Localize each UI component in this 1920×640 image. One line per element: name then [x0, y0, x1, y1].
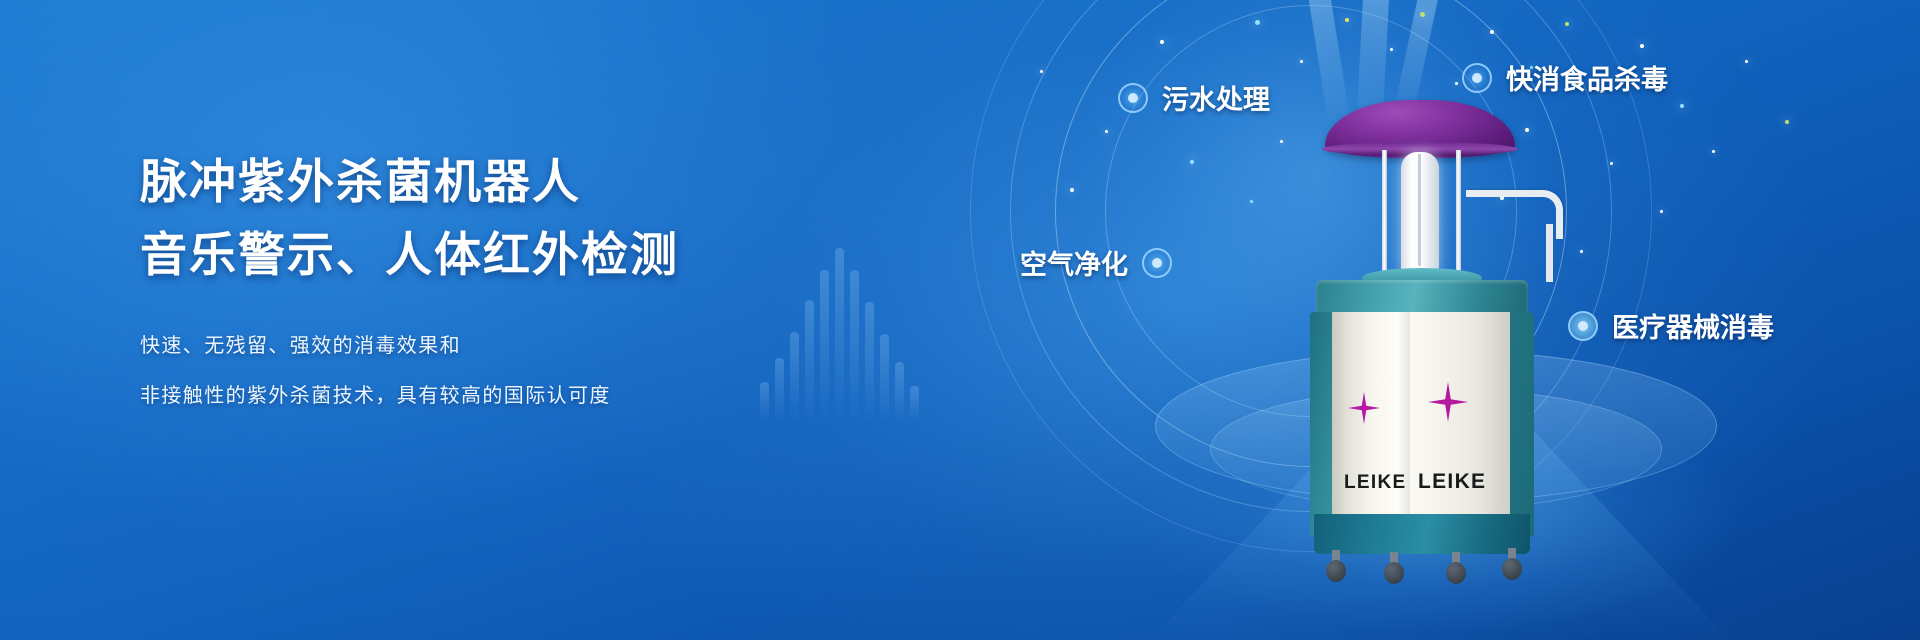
particle-dot	[1345, 18, 1349, 22]
callout-air-purification[interactable]: 空气净化	[1020, 243, 1172, 282]
headline-primary: 脉冲紫外杀菌机器人	[140, 150, 780, 217]
ring-node-icon	[1142, 248, 1172, 278]
waveform-bar	[880, 334, 889, 420]
particle-dot	[1565, 22, 1569, 26]
particle-dot	[1745, 60, 1748, 63]
particle-dot	[1420, 12, 1425, 17]
particle-dot	[1190, 160, 1194, 164]
callout-medical-device-disinfection[interactable]: 医疗器械消毒	[1568, 306, 1774, 345]
callout-label: 污水处理	[1162, 78, 1270, 117]
headline-secondary: 音乐警示、人体红外检测	[140, 223, 780, 290]
ring-node-icon	[1118, 83, 1148, 113]
waveform-bar	[790, 332, 799, 420]
wheel-caster-icon	[1502, 558, 1522, 580]
lamp-support-rod-right	[1456, 150, 1461, 278]
particle-dot	[1255, 20, 1260, 25]
callout-fmcg-food-sterilization[interactable]: 快消食品杀毒	[1462, 58, 1668, 97]
cabinet-base	[1314, 514, 1530, 554]
particle-dot	[1455, 82, 1458, 85]
waveform-bar	[820, 270, 829, 420]
particle-dot	[1660, 210, 1663, 213]
particle-dot	[1712, 150, 1715, 153]
particle-dot	[1250, 200, 1253, 203]
waveform-bar	[850, 270, 859, 420]
handle-stem	[1546, 224, 1553, 282]
wheel-caster-icon	[1446, 562, 1466, 584]
callout-wastewater-treatment[interactable]: 污水处理	[1118, 78, 1270, 117]
waveform-bar	[835, 248, 844, 420]
waveform-bar	[865, 302, 874, 420]
waveform-bar	[805, 300, 814, 420]
particle-dot	[1490, 30, 1494, 34]
particle-dot	[1640, 44, 1644, 48]
background-waveform	[760, 230, 920, 420]
particle-dot	[1040, 70, 1043, 73]
headline-block: 脉冲紫外杀菌机器人 音乐警示、人体红外检测 快速、无残留、强效的消毒效果和 非接…	[140, 150, 780, 405]
solid-node-icon	[1568, 311, 1598, 341]
particle-dot	[1610, 162, 1613, 165]
callout-label: 空气净化	[1020, 243, 1128, 282]
product-banner: LEIKE LEIKE 污水处理 快消食品杀毒 空气净化 医疗器械消毒 脉冲紫外…	[0, 0, 1920, 640]
callout-label: 医疗器械消毒	[1612, 306, 1774, 345]
brand-logo-left: LEIKE	[1344, 472, 1406, 494]
waveform-bar	[910, 386, 919, 420]
brand-logo-right: LEIKE	[1418, 470, 1486, 494]
ring-node-icon	[1462, 63, 1492, 93]
subtext-line-2: 非接触性的紫外杀菌技术，具有较高的国际认可度	[140, 385, 780, 405]
particle-dot	[1160, 40, 1164, 44]
lamp-tube-seam	[1418, 154, 1421, 266]
uv-disinfection-robot: LEIKE LEIKE	[1270, 90, 1590, 510]
particle-dot	[1390, 48, 1393, 51]
particle-dot	[1070, 188, 1074, 192]
callout-label: 快消食品杀毒	[1506, 58, 1668, 97]
wheel-caster-icon	[1384, 562, 1404, 584]
particle-dot	[1300, 60, 1303, 63]
lamp-support-rod-left	[1382, 150, 1387, 278]
particle-dot	[1680, 104, 1684, 108]
subtext-line-1: 快速、无残留、强效的消毒效果和	[140, 335, 780, 355]
particle-dot	[1785, 120, 1789, 124]
particle-dot	[1105, 130, 1108, 133]
wheel-caster-icon	[1326, 560, 1346, 582]
waveform-bar	[895, 362, 904, 420]
subtext-block: 快速、无残留、强效的消毒效果和 非接触性的紫外杀菌技术，具有较高的国际认可度	[140, 335, 780, 405]
